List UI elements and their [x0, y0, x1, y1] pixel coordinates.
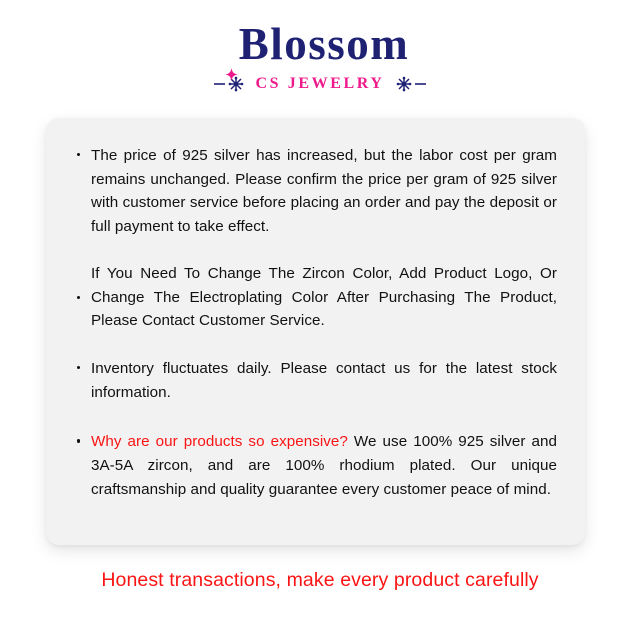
list-item-text: If You Need To Change The Zircon Color, …	[91, 265, 557, 329]
list-item-emphasis: Why are our products so expensive?	[91, 433, 348, 450]
list-item-price-notice: The price of 925 silver has increased, b…	[76, 144, 557, 239]
footer-tagline: Honest transactions, make every product …	[0, 569, 640, 592]
notice-bullet-list: The price of 925 silver has increased, b…	[76, 144, 557, 501]
snowflake-ornament-icon-right	[392, 76, 426, 92]
list-item-inventory-notice: Inventory fluctuates daily. Please conta…	[76, 357, 557, 404]
brand-subtitle-row: CS JEWELRY	[0, 76, 640, 92]
list-item-pricing-explanation: Why are our products so expensive? We us…	[76, 430, 557, 501]
brand-wordmark: Blossom	[231, 22, 410, 67]
list-item-text: The price of 925 silver has increased, b…	[91, 147, 557, 235]
four-point-star-icon	[225, 44, 238, 57]
brand-subtitle-text: CS JEWELRY	[255, 76, 384, 92]
bullet-dot-icon	[77, 366, 80, 369]
bullet-dot-icon	[77, 439, 80, 442]
list-item-customization-notice: If You Need To Change The Zircon Color, …	[76, 262, 557, 333]
brand-header: Blossom CS JEWELRY	[0, 22, 640, 92]
bullet-dot-icon	[77, 153, 80, 156]
bullet-dot-icon	[77, 296, 80, 299]
notice-card: The price of 925 silver has increased, b…	[46, 118, 585, 545]
list-item-text: Inventory fluctuates daily. Please conta…	[91, 360, 557, 401]
brand-wordmark-text: Blossom	[239, 19, 410, 69]
